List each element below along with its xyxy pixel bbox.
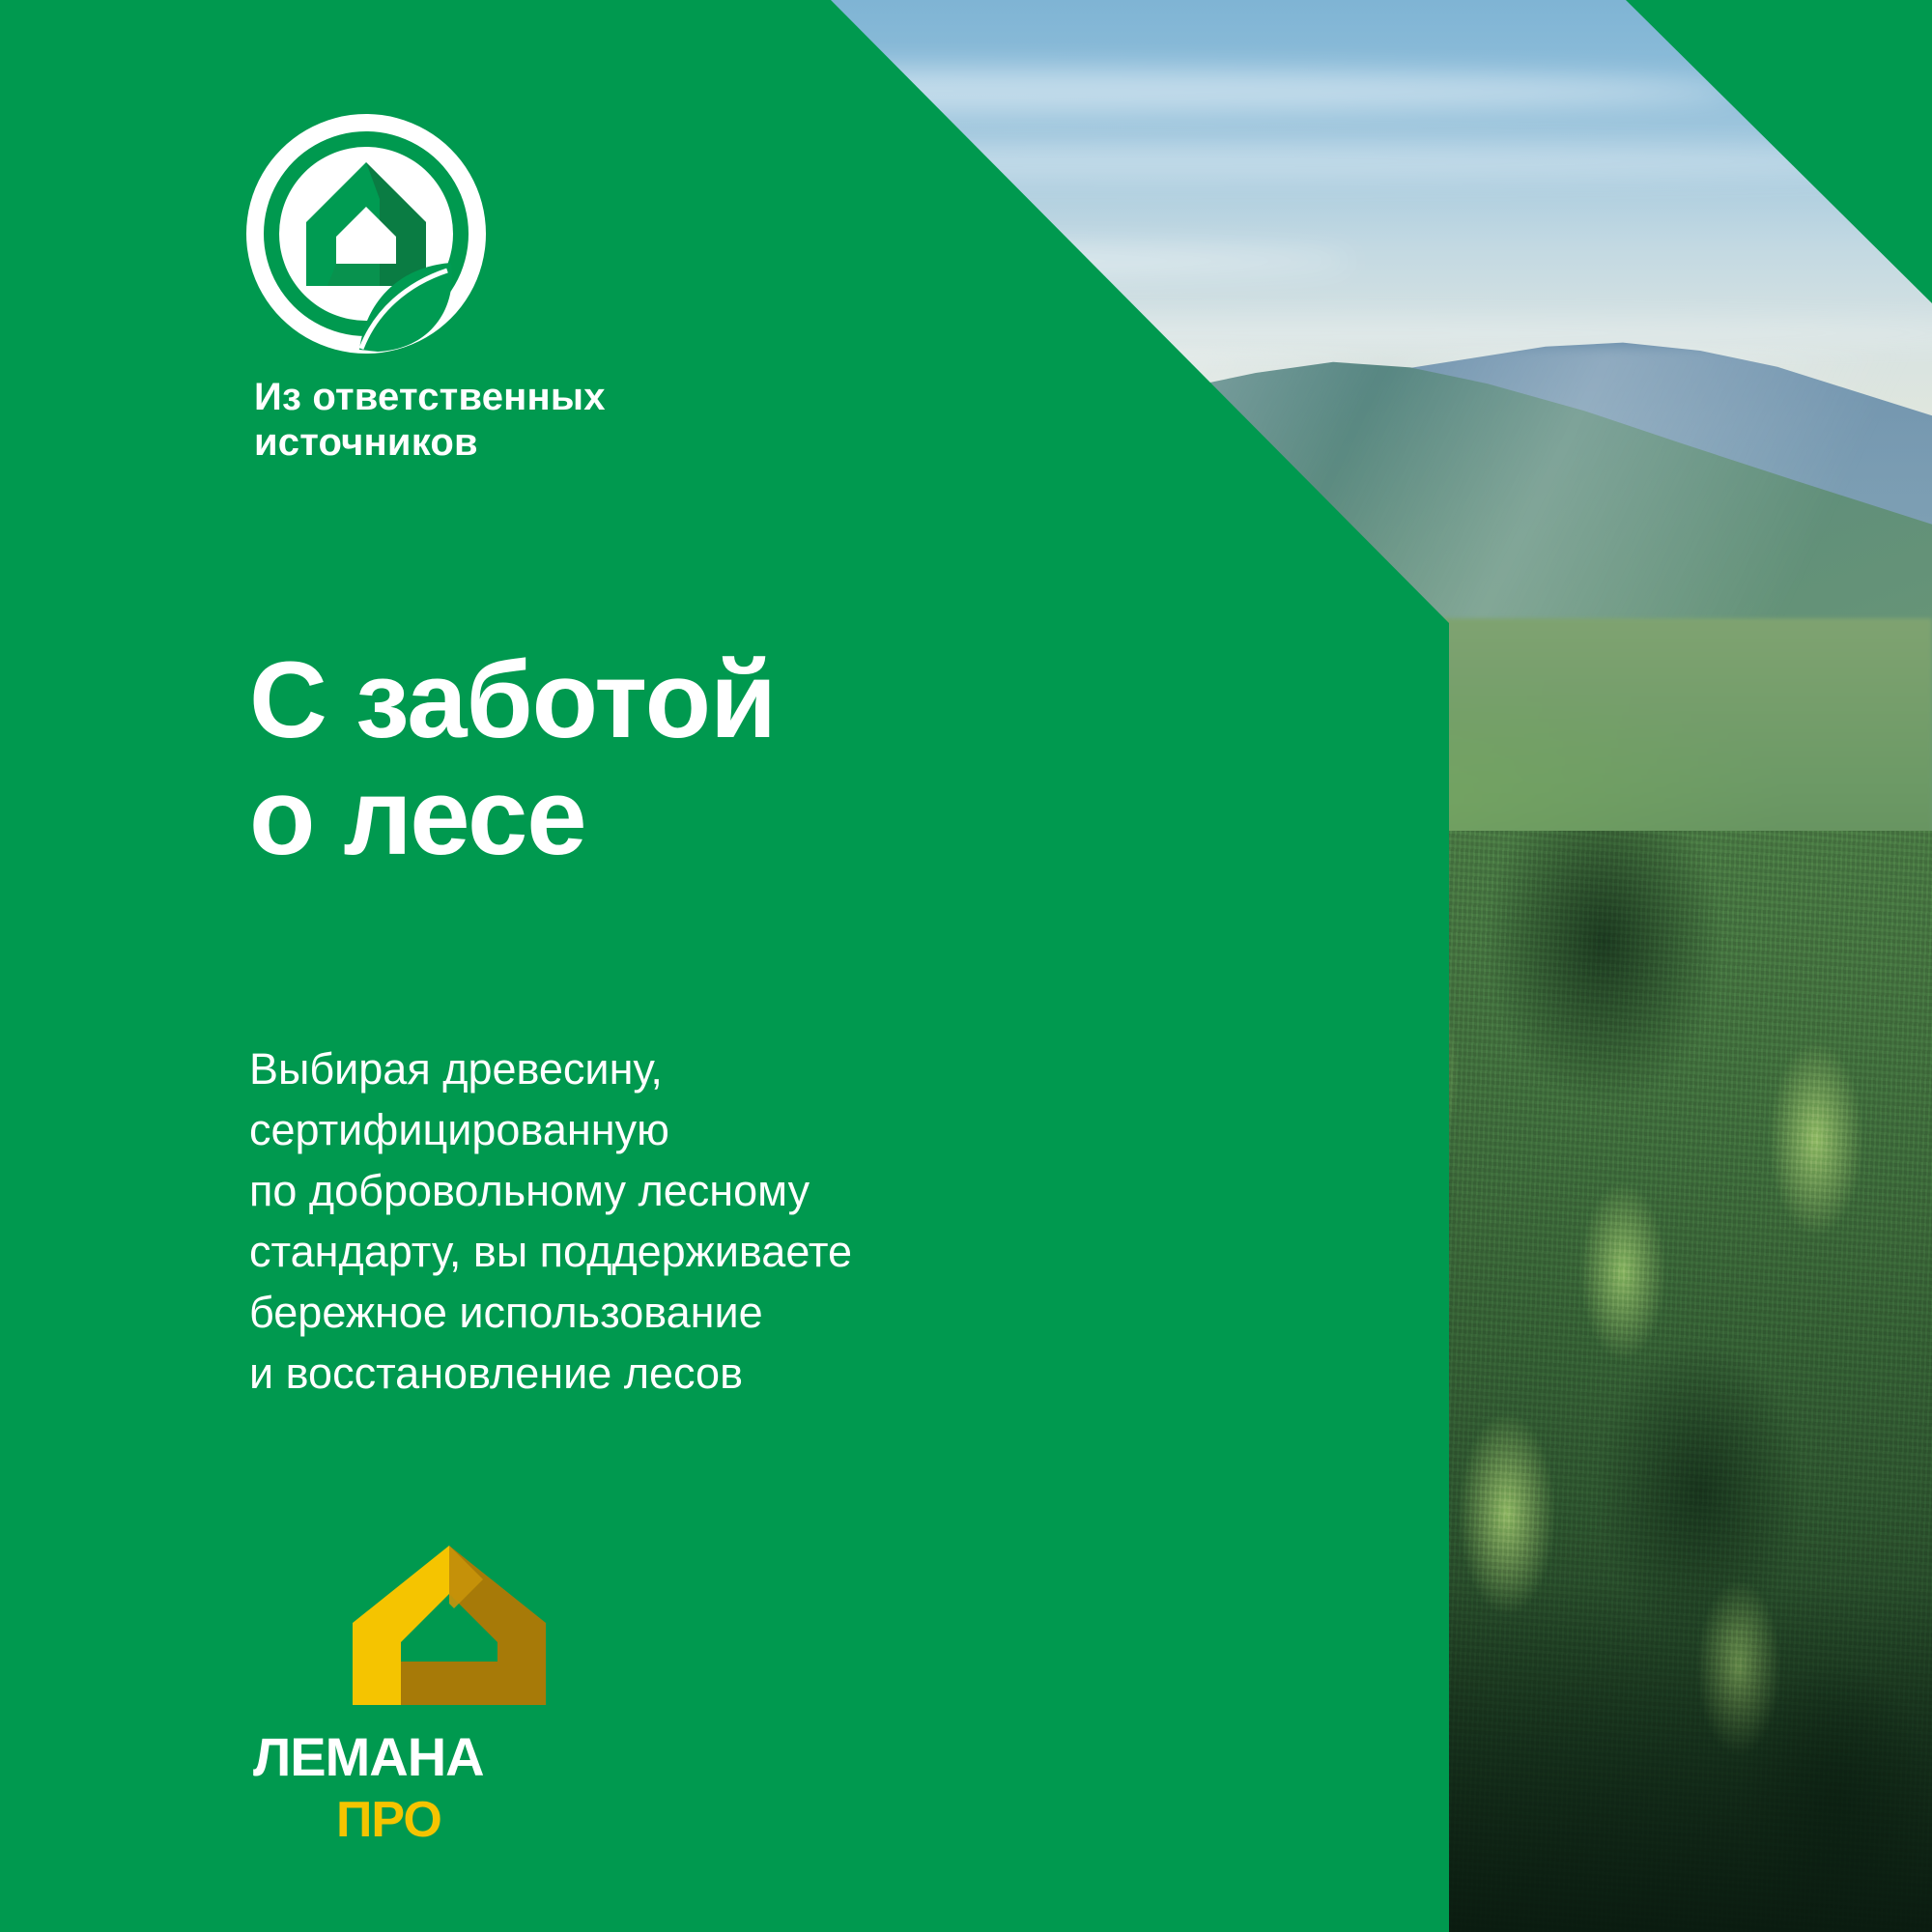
eco-house-leaf-circle-icon (246, 114, 486, 354)
poster-content: Из ответственных источников С заботой о … (0, 0, 1932, 1932)
lemana-house-icon (328, 1546, 570, 1710)
brand-lockup: ЛЕМАНА ПРО (253, 1546, 620, 1843)
page-title: С заботой о лесе (249, 642, 776, 876)
body-copy: Выбирая древесину, сертифицированную по … (249, 1038, 852, 1404)
brand-suffix-pro: ПРО (336, 1793, 529, 1843)
poster-canvas: Из ответственных источников С заботой о … (0, 0, 1932, 1932)
svg-text:ЛЕМАНА: ЛЕМАНА (253, 1729, 484, 1783)
brand-name-lemana: ЛЕМАНА (253, 1729, 586, 1783)
eco-badge-caption: Из ответственных источников (254, 375, 710, 466)
eco-badge: Из ответственных источников (246, 114, 710, 466)
svg-text:ПРО: ПРО (336, 1793, 441, 1843)
